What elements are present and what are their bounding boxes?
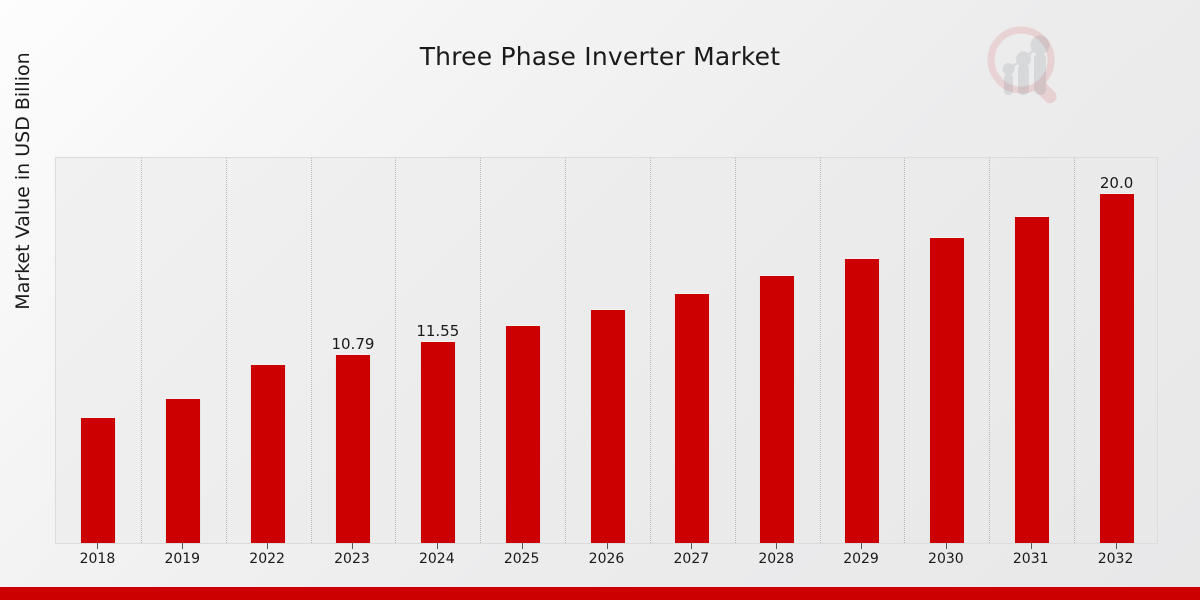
- gridline: [904, 158, 906, 543]
- bar-value-label-2023: 10.79: [313, 335, 393, 353]
- x-tick-label-2027: 2027: [661, 551, 721, 567]
- x-axis: 2018201920222023202420252026202720282029…: [55, 543, 1158, 573]
- gridline: [820, 158, 822, 543]
- x-tick-label-2024: 2024: [407, 551, 467, 567]
- bar-2018[interactable]: [80, 417, 116, 543]
- bar-value-label-2024: 11.55: [398, 322, 478, 340]
- gridline: [480, 158, 482, 543]
- gridline: [226, 158, 228, 543]
- gridline: [565, 158, 567, 543]
- x-tick-label-2019: 2019: [152, 551, 212, 567]
- bar-2028[interactable]: [759, 275, 795, 543]
- x-tick-label-2029: 2029: [831, 551, 891, 567]
- x-tick-label-2023: 2023: [322, 551, 382, 567]
- x-tick: [182, 543, 183, 549]
- x-tick: [97, 543, 98, 549]
- y-axis-label: Market Value in USD Billion: [10, 0, 36, 391]
- brand-logo: [982, 22, 1068, 108]
- gridline: [1074, 158, 1076, 543]
- x-tick: [267, 543, 268, 549]
- bar-2027[interactable]: [674, 293, 710, 543]
- x-tick: [776, 543, 777, 549]
- x-tick-label-2032: 2032: [1086, 551, 1146, 567]
- x-tick-label-2022: 2022: [237, 551, 297, 567]
- bar-2024[interactable]: [420, 341, 456, 543]
- x-tick: [437, 543, 438, 549]
- bar-2023[interactable]: [335, 354, 371, 543]
- magnifier-bar-chart-icon: [982, 22, 1068, 108]
- x-tick-label-2031: 2031: [1001, 551, 1061, 567]
- bar-value-label-2032: 20.0: [1077, 174, 1157, 192]
- bar-2030[interactable]: [929, 237, 965, 543]
- gridline: [735, 158, 737, 543]
- bar-2019[interactable]: [165, 398, 201, 543]
- x-tick-label-2025: 2025: [492, 551, 552, 567]
- plot-area: 10.7911.5520.0: [55, 157, 1158, 544]
- bar-2022[interactable]: [250, 364, 286, 543]
- x-tick: [1116, 543, 1117, 549]
- x-tick: [607, 543, 608, 549]
- x-tick: [861, 543, 862, 549]
- x-tick-label-2028: 2028: [746, 551, 806, 567]
- x-tick: [352, 543, 353, 549]
- gridline: [989, 158, 991, 543]
- x-tick: [946, 543, 947, 549]
- bar-2025[interactable]: [505, 325, 541, 543]
- footer-accent-bar: [0, 587, 1200, 600]
- bar-2031[interactable]: [1014, 216, 1050, 543]
- bar-2026[interactable]: [590, 309, 626, 543]
- x-tick-label-2030: 2030: [916, 551, 976, 567]
- x-tick-label-2026: 2026: [577, 551, 637, 567]
- bar-2032[interactable]: [1099, 193, 1135, 543]
- chart-figure: Three Phase Inverter Market Market Value…: [0, 0, 1200, 600]
- x-tick: [522, 543, 523, 549]
- bar-2029[interactable]: [844, 258, 880, 543]
- x-tick: [1031, 543, 1032, 549]
- x-tick-label-2018: 2018: [67, 551, 127, 567]
- gridline: [141, 158, 143, 543]
- gridline: [395, 158, 397, 543]
- x-tick: [691, 543, 692, 549]
- gridline: [650, 158, 652, 543]
